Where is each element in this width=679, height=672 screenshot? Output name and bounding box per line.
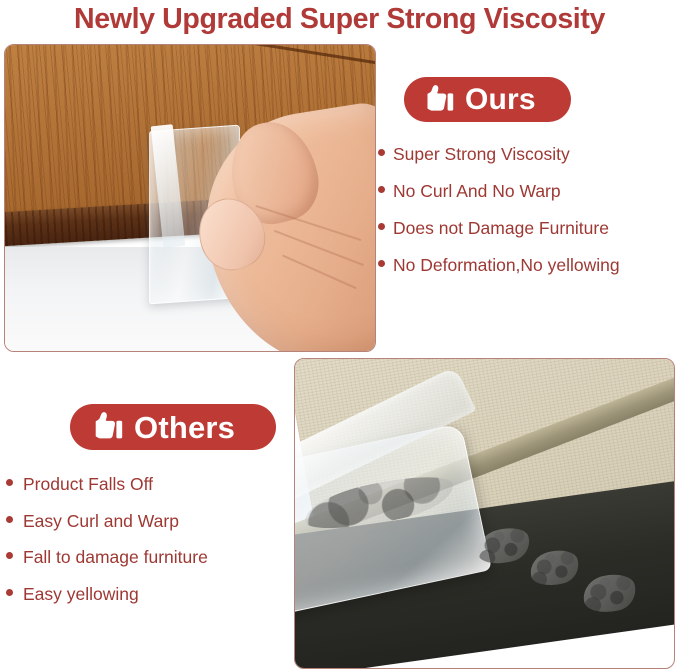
list-item-label: No Curl And No Warp — [393, 183, 561, 201]
list-item: Easy Curl and Warp — [6, 513, 296, 550]
bullet-dot-icon — [6, 589, 13, 596]
list-item: Easy yellowing — [6, 586, 296, 623]
thumbs-up-icon — [88, 411, 123, 443]
list-item: No Curl And No Warp — [378, 183, 678, 220]
list-item: Super Strong Viscosity — [378, 146, 678, 183]
list-item: No Deformation,No yellowing — [378, 257, 678, 294]
list-item: Does not Damage Furniture — [378, 220, 678, 257]
bullet-dot-icon — [6, 516, 13, 523]
others-drawback-list: Product Falls Off Easy Curl and Warp Fal… — [6, 476, 296, 622]
others-badge-label: Others — [134, 412, 235, 443]
thumbs-up-icon — [420, 84, 454, 115]
list-item-label: Does not Damage Furniture — [393, 220, 609, 238]
bullet-dot-icon — [378, 223, 385, 230]
bullet-dot-icon — [378, 149, 385, 156]
bullet-dot-icon — [6, 552, 13, 559]
list-item-label: Fall to damage furniture — [23, 549, 208, 567]
ours-product-photo — [4, 44, 376, 352]
list-item: Product Falls Off — [6, 476, 296, 513]
bullet-dot-icon — [6, 479, 13, 486]
list-item-label: Product Falls Off — [23, 476, 153, 494]
page-title: Newly Upgraded Super Strong Viscosity — [5, 0, 674, 40]
others-product-photo — [294, 358, 675, 669]
others-badge: Others — [70, 404, 276, 450]
list-item-label: No Deformation,No yellowing — [393, 257, 620, 275]
ours-benefit-list: Super Strong Viscosity No Curl And No Wa… — [378, 146, 678, 294]
others-photo-scene — [295, 359, 674, 668]
list-item-label: Easy Curl and Warp — [23, 513, 179, 531]
list-item-label: Super Strong Viscosity — [393, 146, 570, 164]
ours-photo-scene — [5, 45, 375, 351]
bullet-dot-icon — [378, 186, 385, 193]
ours-badge: Ours — [404, 77, 571, 122]
list-item: Fall to damage furniture — [6, 549, 296, 586]
ours-badge-label: Ours — [465, 85, 536, 115]
bullet-dot-icon — [378, 260, 385, 267]
list-item-label: Easy yellowing — [23, 586, 139, 604]
